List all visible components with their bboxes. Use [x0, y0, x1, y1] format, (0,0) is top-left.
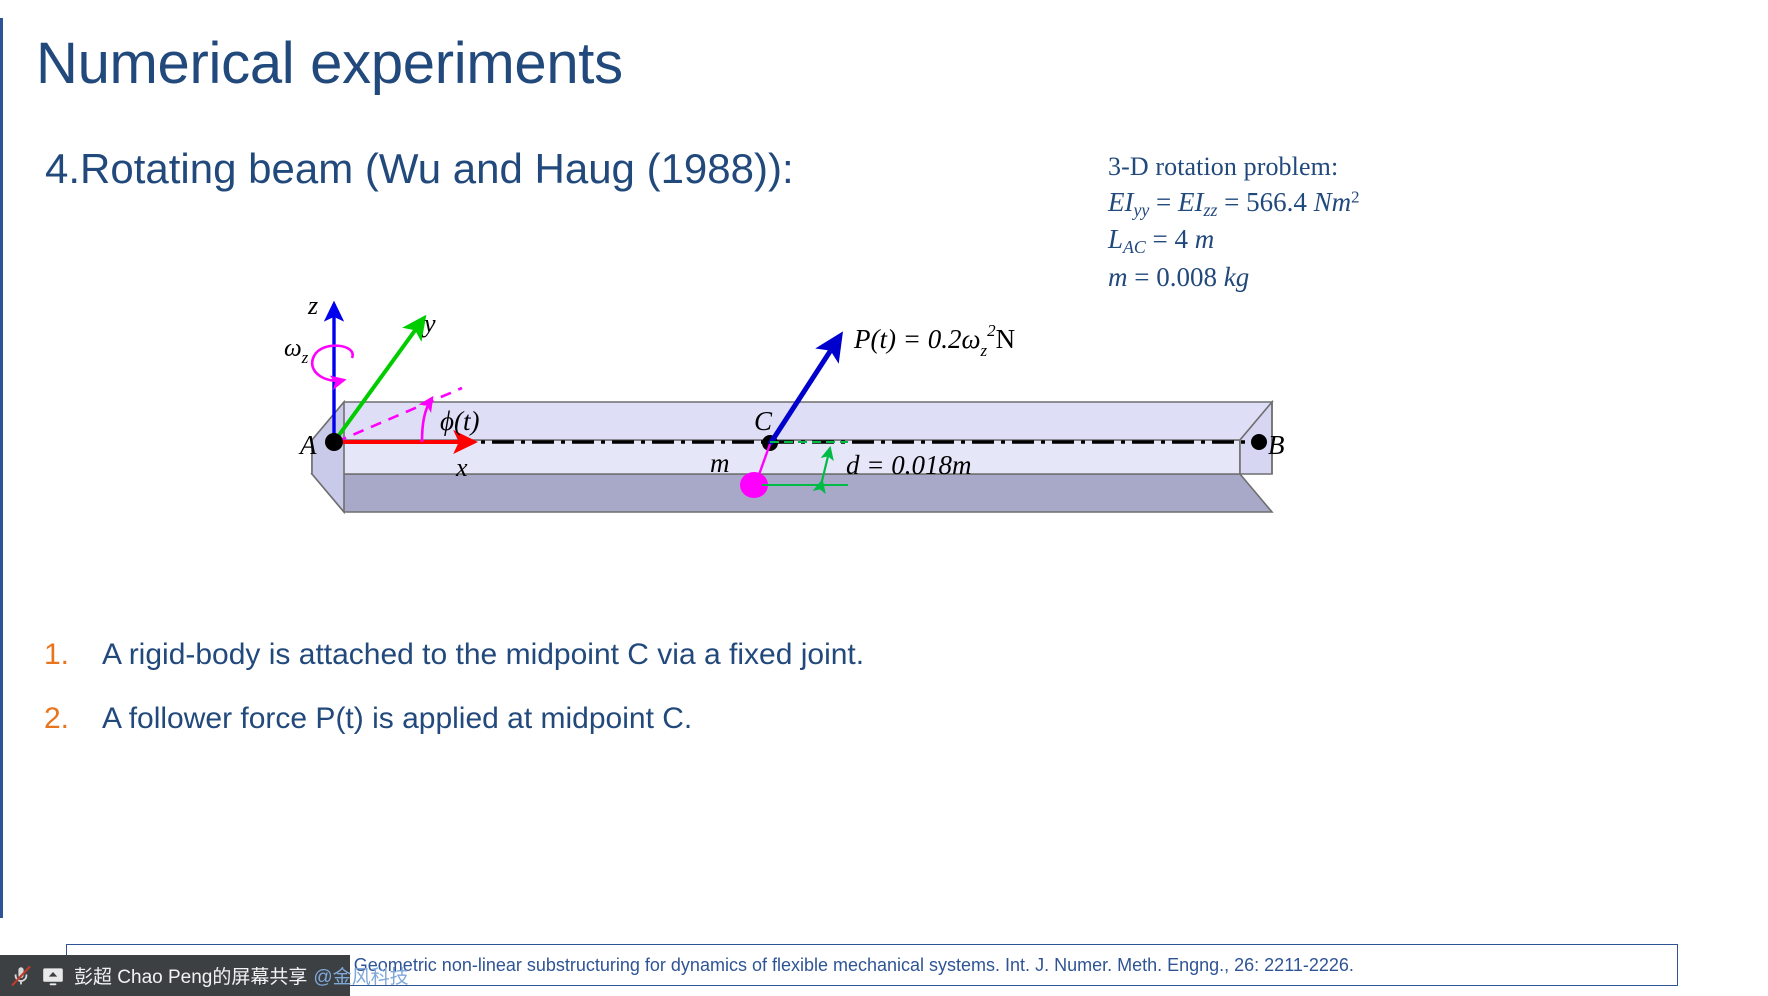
omega-subscript: z [301, 348, 309, 367]
eq-unit-exponent: 2 [1351, 187, 1359, 206]
eq-unit: Nm [1314, 187, 1352, 217]
rotating-beam-diagram: z y x ωz ϕ(t) A B C [270, 278, 1570, 548]
list-item-label: A follower force P(t) is applied at midp… [102, 700, 692, 738]
list-item-number: 1. [44, 636, 102, 674]
screen-share-icon[interactable] [40, 963, 66, 989]
eq-equals-2: = [1224, 187, 1239, 217]
axis-y-label: y [421, 309, 436, 338]
node-a-label: A [298, 430, 317, 460]
eq-sub-1: AC [1123, 237, 1146, 257]
force-unit: N [996, 324, 1016, 354]
list-item-label: A rigid-body is attached to the midpoint… [102, 636, 864, 674]
node-b-label: B [1268, 430, 1285, 460]
problem-heading: 4.Rotating beam (Wu and Haug (1988)): [45, 146, 794, 192]
screen-share-watermark: @金风科技 [313, 962, 408, 989]
equation-length-ac: LAC = 4 m [1108, 222, 1668, 260]
omega-z-label: ωz [284, 335, 309, 367]
eq-sub-1: yy [1133, 200, 1149, 220]
slide-left-accent-line [0, 18, 3, 918]
axis-z-label: z [307, 291, 318, 320]
list-item: 2. A follower force P(t) is applied at m… [44, 700, 1244, 738]
notes-list: 1. A rigid-body is attached to the midpo… [44, 636, 1244, 764]
mass-label: m [710, 448, 730, 478]
parameters-heading: 3-D rotation problem: [1108, 150, 1668, 185]
screen-share-bar[interactable]: 彭超 Chao Peng的屏幕共享 @金风科技 [0, 955, 350, 996]
eq-equals-1: = [1156, 187, 1171, 217]
eq-lhs-1: EI [1108, 187, 1133, 217]
eq-lhs-2: EI [1178, 187, 1203, 217]
node-a-dot [325, 433, 343, 451]
microphone-muted-icon[interactable] [8, 963, 34, 989]
screen-share-label: 彭超 Chao Peng的屏幕共享 [74, 962, 307, 989]
list-item: 1. A rigid-body is attached to the midpo… [44, 636, 1244, 674]
eq-lhs-1: L [1108, 224, 1123, 254]
beam-left-end-face [312, 402, 344, 512]
node-c-label: C [754, 406, 773, 436]
phi-label: ϕ(t) [440, 406, 479, 436]
eq-equals-1: = [1153, 224, 1168, 254]
page-title: Numerical experiments [36, 34, 623, 95]
omega-symbol: ω [284, 335, 302, 362]
offset-dimension-label: d = 0.018m [846, 450, 971, 480]
equation-bending-stiffness: EIyy = EIzz = 566.4 Nm2 [1108, 185, 1668, 223]
force-expression: P(t) = 0.2ω [853, 324, 981, 354]
slide-canvas: Numerical experiments 4.Rotating beam (W… [0, 0, 1768, 996]
eq-value: 566.4 [1246, 187, 1307, 217]
list-item-number: 2. [44, 700, 102, 738]
eq-unit: m [1195, 224, 1215, 254]
force-subscript: z [980, 341, 988, 360]
parameters-panel: 3-D rotation problem: EIyy = EIzz = 566.… [1108, 150, 1668, 296]
eq-value: 4 [1175, 224, 1189, 254]
node-b-dot [1251, 434, 1267, 450]
follower-force-label: P(t) = 0.2ωz2N [853, 321, 1015, 360]
axis-x-label: x [455, 453, 468, 482]
eq-sub-2: zz [1204, 200, 1218, 220]
